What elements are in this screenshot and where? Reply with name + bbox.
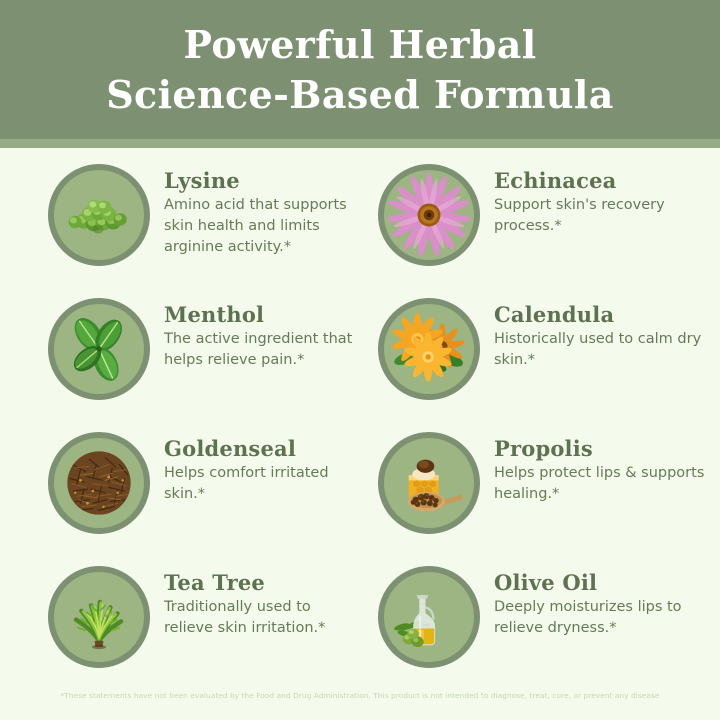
ingredient-copy: Calendula Historically used to calm dry … — [494, 292, 709, 371]
dried-root-icon — [48, 432, 150, 534]
ingredient-item-lysine: Lysine Amino acid that supports skin hea… — [0, 158, 360, 288]
ingredient-description: The active ingredient that helps relieve… — [164, 329, 360, 371]
header-title-line-2: Science-Based Formula — [106, 70, 614, 120]
ingredient-item-tea-tree: Tea Tree Traditionally used to relieve s… — [0, 560, 360, 690]
ingredient-description: Deeply moisturizes lips to relieve dryne… — [494, 597, 709, 639]
header-title-line-1: Powerful Herbal — [183, 20, 536, 70]
ingredient-name: Propolis — [494, 436, 709, 461]
ingredient-copy: Goldenseal Helps comfort irritated skin.… — [164, 426, 360, 505]
page-header: Powerful Herbal Science-Based Formula — [0, 0, 720, 139]
ingredient-item-olive-oil: Olive Oil Deeply moisturizes lips to rel… — [360, 560, 720, 690]
ingredient-item-goldenseal: Goldenseal Helps comfort irritated skin.… — [0, 426, 360, 556]
ingredient-copy: Echinacea Support skin's recovery proces… — [494, 158, 709, 237]
ingredient-name: Goldenseal — [164, 436, 360, 461]
ingredient-description: Traditionally used to relieve skin irrit… — [164, 597, 360, 639]
header-accent-stripe — [0, 139, 720, 148]
ingredient-description: Historically used to calm dry skin.* — [494, 329, 709, 371]
ingredient-name: Calendula — [494, 302, 709, 327]
infographic-page: Powerful Herbal Science-Based Formula — [0, 0, 720, 720]
ingredient-copy: Menthol The active ingredient that helps… — [164, 292, 360, 371]
ingredient-description: Support skin's recovery process.* — [494, 195, 709, 237]
honeycomb-spoon-icon — [378, 432, 480, 534]
ingredient-copy: Olive Oil Deeply moisturizes lips to rel… — [494, 560, 709, 639]
ingredient-description: Amino acid that supports skin health and… — [164, 195, 360, 258]
mint-leaves-icon — [48, 298, 150, 400]
disclaimer-text: *These statements have not been evaluate… — [0, 690, 720, 701]
ingredient-name: Menthol — [164, 302, 360, 327]
ingredient-name: Olive Oil — [494, 570, 709, 595]
ingredient-item-propolis: Propolis Helps protect lips & supports h… — [360, 426, 720, 556]
ingredient-name: Echinacea — [494, 168, 709, 193]
ingredient-description: Helps comfort irritated skin.* — [164, 463, 360, 505]
ingredient-item-calendula: Calendula Historically used to calm dry … — [360, 292, 720, 422]
ingredient-description: Helps protect lips & supports healing.* — [494, 463, 709, 505]
olive-oil-cruet-icon — [378, 566, 480, 668]
ingredient-grid: Lysine Amino acid that supports skin hea… — [0, 158, 720, 680]
echinacea-flower-icon — [378, 164, 480, 266]
footer-disclaimer: *These statements have not been evaluate… — [0, 690, 720, 701]
ingredient-item-menthol: Menthol The active ingredient that helps… — [0, 292, 360, 422]
green-peas-icon — [48, 164, 150, 266]
ingredient-name: Tea Tree — [164, 570, 360, 595]
tea-tree-shrub-icon — [48, 566, 150, 668]
calendula-flower-icon — [378, 298, 480, 400]
ingredient-copy: Tea Tree Traditionally used to relieve s… — [164, 560, 360, 639]
ingredient-copy: Lysine Amino acid that supports skin hea… — [164, 158, 360, 258]
ingredient-item-echinacea: Echinacea Support skin's recovery proces… — [360, 158, 720, 288]
ingredient-copy: Propolis Helps protect lips & supports h… — [494, 426, 709, 505]
ingredient-name: Lysine — [164, 168, 360, 193]
